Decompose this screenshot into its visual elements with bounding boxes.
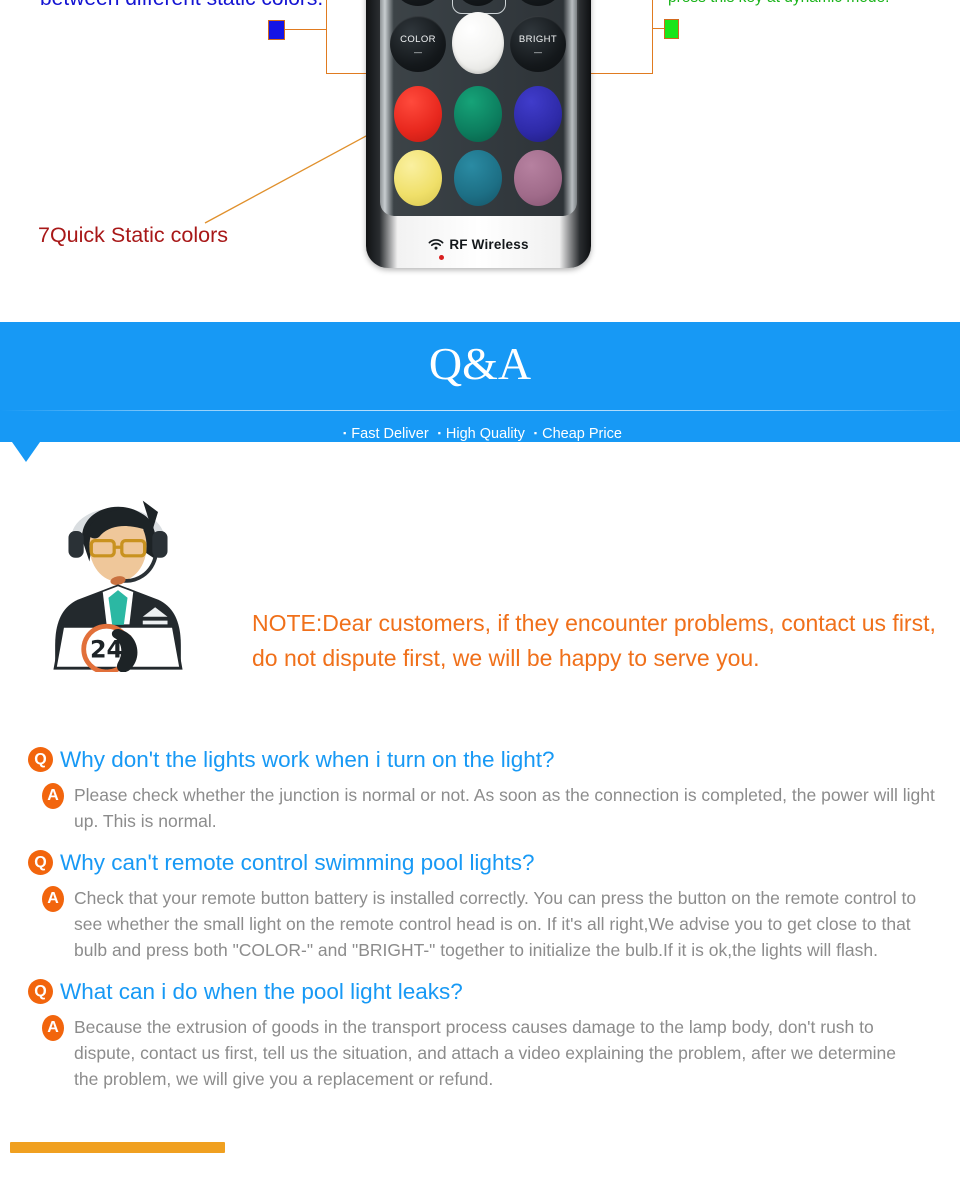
connector-left-stub	[283, 29, 327, 30]
remote-brand-text: RF Wireless	[449, 237, 528, 252]
faq-answer-row: A Because the extrusion of goods in the …	[0, 1014, 960, 1092]
banner-bullet-3: Cheap Price	[542, 426, 622, 442]
remote-button-power	[452, 12, 504, 74]
customer-service-agent-icon: 24	[18, 472, 218, 672]
bullet-icon-3: ▪	[534, 428, 537, 438]
faq-item: Q What can i do when the pool light leak…	[0, 977, 960, 1092]
faq-answer-row: A Check that your remote button battery …	[0, 885, 960, 963]
answer-badge-icon: A	[42, 886, 64, 912]
wifi-icon	[428, 239, 444, 254]
remote-keypad-panel: COLOR + MODE − BRIGHT + COLOR — BRIGHT —	[380, 0, 577, 216]
remote-sign-color-minus: —	[390, 48, 446, 57]
remote-swatch-mauve	[514, 150, 562, 206]
faq-question-text: Why can't remote control swimming pool l…	[60, 848, 960, 878]
remote-swatch-green	[454, 86, 502, 142]
remote-label-color-minus: COLOR	[390, 34, 446, 45]
bullet-icon-1: ▪	[343, 428, 346, 438]
note-text: NOTE:Dear customers, if they encounter p…	[252, 606, 952, 676]
product-diagram-section: between different static colors. press t…	[0, 0, 960, 320]
banner-bullet-2: High Quality	[446, 426, 525, 442]
faq-question-row[interactable]: Q What can i do when the pool light leak…	[0, 977, 960, 1011]
marker-blue-square	[268, 20, 285, 40]
remote-swatch-yellow	[394, 150, 442, 206]
remote-swatch-teal	[454, 150, 502, 206]
faq-answer-text: Check that your remote button battery is…	[74, 885, 920, 963]
faq-question-text: Why don't the lights work when i turn on…	[60, 745, 960, 775]
bullet-icon-2: ▪	[438, 428, 441, 438]
faq-answer-text: Please check whether the junction is nor…	[74, 782, 960, 834]
remote-swatch-red	[394, 86, 442, 142]
question-badge-icon: Q	[28, 979, 53, 1004]
faq-item: Q Why can't remote control swimming pool…	[0, 848, 960, 963]
faq-answer-text: Because the extrusion of goods in the tr…	[74, 1014, 914, 1092]
callout-dynamic-mode: press this key at dynamic mode.	[668, 0, 958, 8]
answer-badge-icon: A	[42, 1015, 64, 1041]
question-badge-icon: Q	[28, 850, 53, 875]
faq-question-text: What can i do when the pool light leaks?	[60, 977, 960, 1007]
qa-banner-title: Q&A	[0, 338, 960, 390]
remote-button-bright-plus: BRIGHT +	[512, 0, 564, 6]
banner-bullet-1: Fast Deliver	[351, 426, 428, 442]
connector-left-vertical	[326, 0, 327, 74]
remote-label-bright-minus: BRIGHT	[510, 34, 566, 45]
answer-badge-icon: A	[42, 783, 64, 809]
callout-quick-static-colors: 7Quick Static colors	[38, 222, 228, 248]
remote-sign-bright-minus: —	[510, 48, 566, 57]
qa-banner-subtitle: ▪Fast Deliver ▪High Quality ▪Cheap Price	[0, 426, 960, 442]
remote-led-indicator	[439, 255, 444, 260]
qa-banner-divider	[0, 410, 960, 411]
remote-button-color-minus: COLOR —	[390, 16, 446, 72]
remote-button-color-plus: COLOR +	[392, 0, 444, 6]
faq-question-row[interactable]: Q Why can't remote control swimming pool…	[0, 848, 960, 882]
faq-question-row[interactable]: Q Why don't the lights work when i turn …	[0, 745, 960, 779]
question-badge-icon: Q	[28, 747, 53, 772]
faq-item: Q Why don't the lights work when i turn …	[0, 745, 960, 834]
qa-banner: Q&A ▪Fast Deliver ▪High Quality ▪Cheap P…	[0, 322, 960, 442]
faq-answer-row: A Please check whether the junction is n…	[0, 782, 960, 834]
marker-green-square	[664, 19, 679, 39]
callout-static-colors: between different static colors.	[40, 0, 330, 12]
desk-bar	[10, 1142, 225, 1153]
remote-brand-label: RF Wireless	[366, 237, 591, 254]
remote-button-bright-minus: BRIGHT —	[510, 16, 566, 72]
qa-banner-pointer	[12, 442, 40, 462]
connector-right-vertical	[652, 0, 653, 74]
remote-swatch-blue	[514, 86, 562, 142]
note-section: 24 NOTE:Dear customers, if they encounte…	[0, 462, 960, 712]
remote-control-image: COLOR + MODE − BRIGHT + COLOR — BRIGHT —	[366, 0, 591, 268]
faq-list: Q Why don't the lights work when i turn …	[0, 745, 960, 1098]
